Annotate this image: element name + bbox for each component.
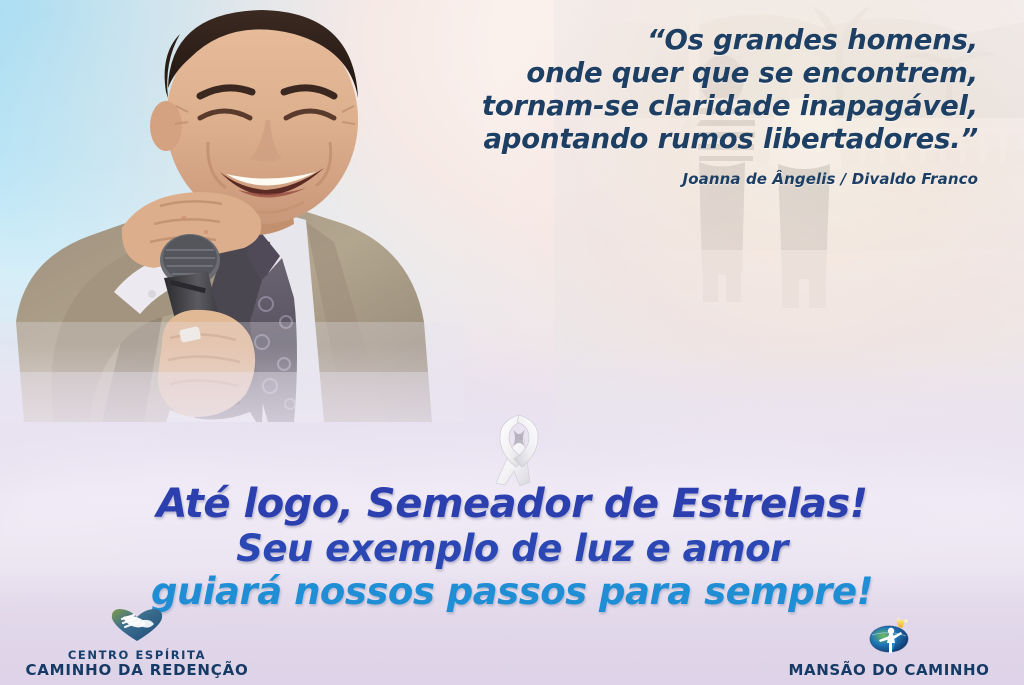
logo-right-line-1: MANSÃO DO CAMINHO <box>764 662 1014 679</box>
headline-line-2: Seu exemplo de luz e amor <box>0 530 1024 567</box>
quote-block: “Os grandes homens, onde quer que se enc… <box>418 24 978 188</box>
quote-line-1: “Os grandes homens, <box>418 24 978 57</box>
heart-hands-icon <box>12 608 262 646</box>
logo-left-line-2: CAMINHO DA REDENÇÃO <box>12 662 262 679</box>
headline-line-3: guiará nossos passos para sempre! <box>0 573 1024 610</box>
logo-centro-espirita: CENTRO ESPÍRITA CAMINHO DA REDENÇÃO <box>12 608 262 679</box>
quote-line-4: apontando rumos libertadores.” <box>418 123 978 156</box>
memorial-poster: “Os grandes homens, onde quer que se enc… <box>0 0 1024 685</box>
logo-mansao-do-caminho: MANSÃO DO CAMINHO <box>764 615 1014 679</box>
headline-block: Até logo, Semeador de Estrelas! Seu exem… <box>0 484 1024 610</box>
quote-line-3: tornam-se claridade inapagável, <box>418 90 978 123</box>
quote-attribution: Joanna de Ângelis / Divaldo Franco <box>418 170 978 188</box>
headline-line-1: Até logo, Semeador de Estrelas! <box>0 484 1024 524</box>
quote-line-2: onde quer que se encontrem, <box>418 57 978 90</box>
globe-figure-icon <box>764 615 1014 659</box>
white-ribbon-icon <box>483 409 555 491</box>
